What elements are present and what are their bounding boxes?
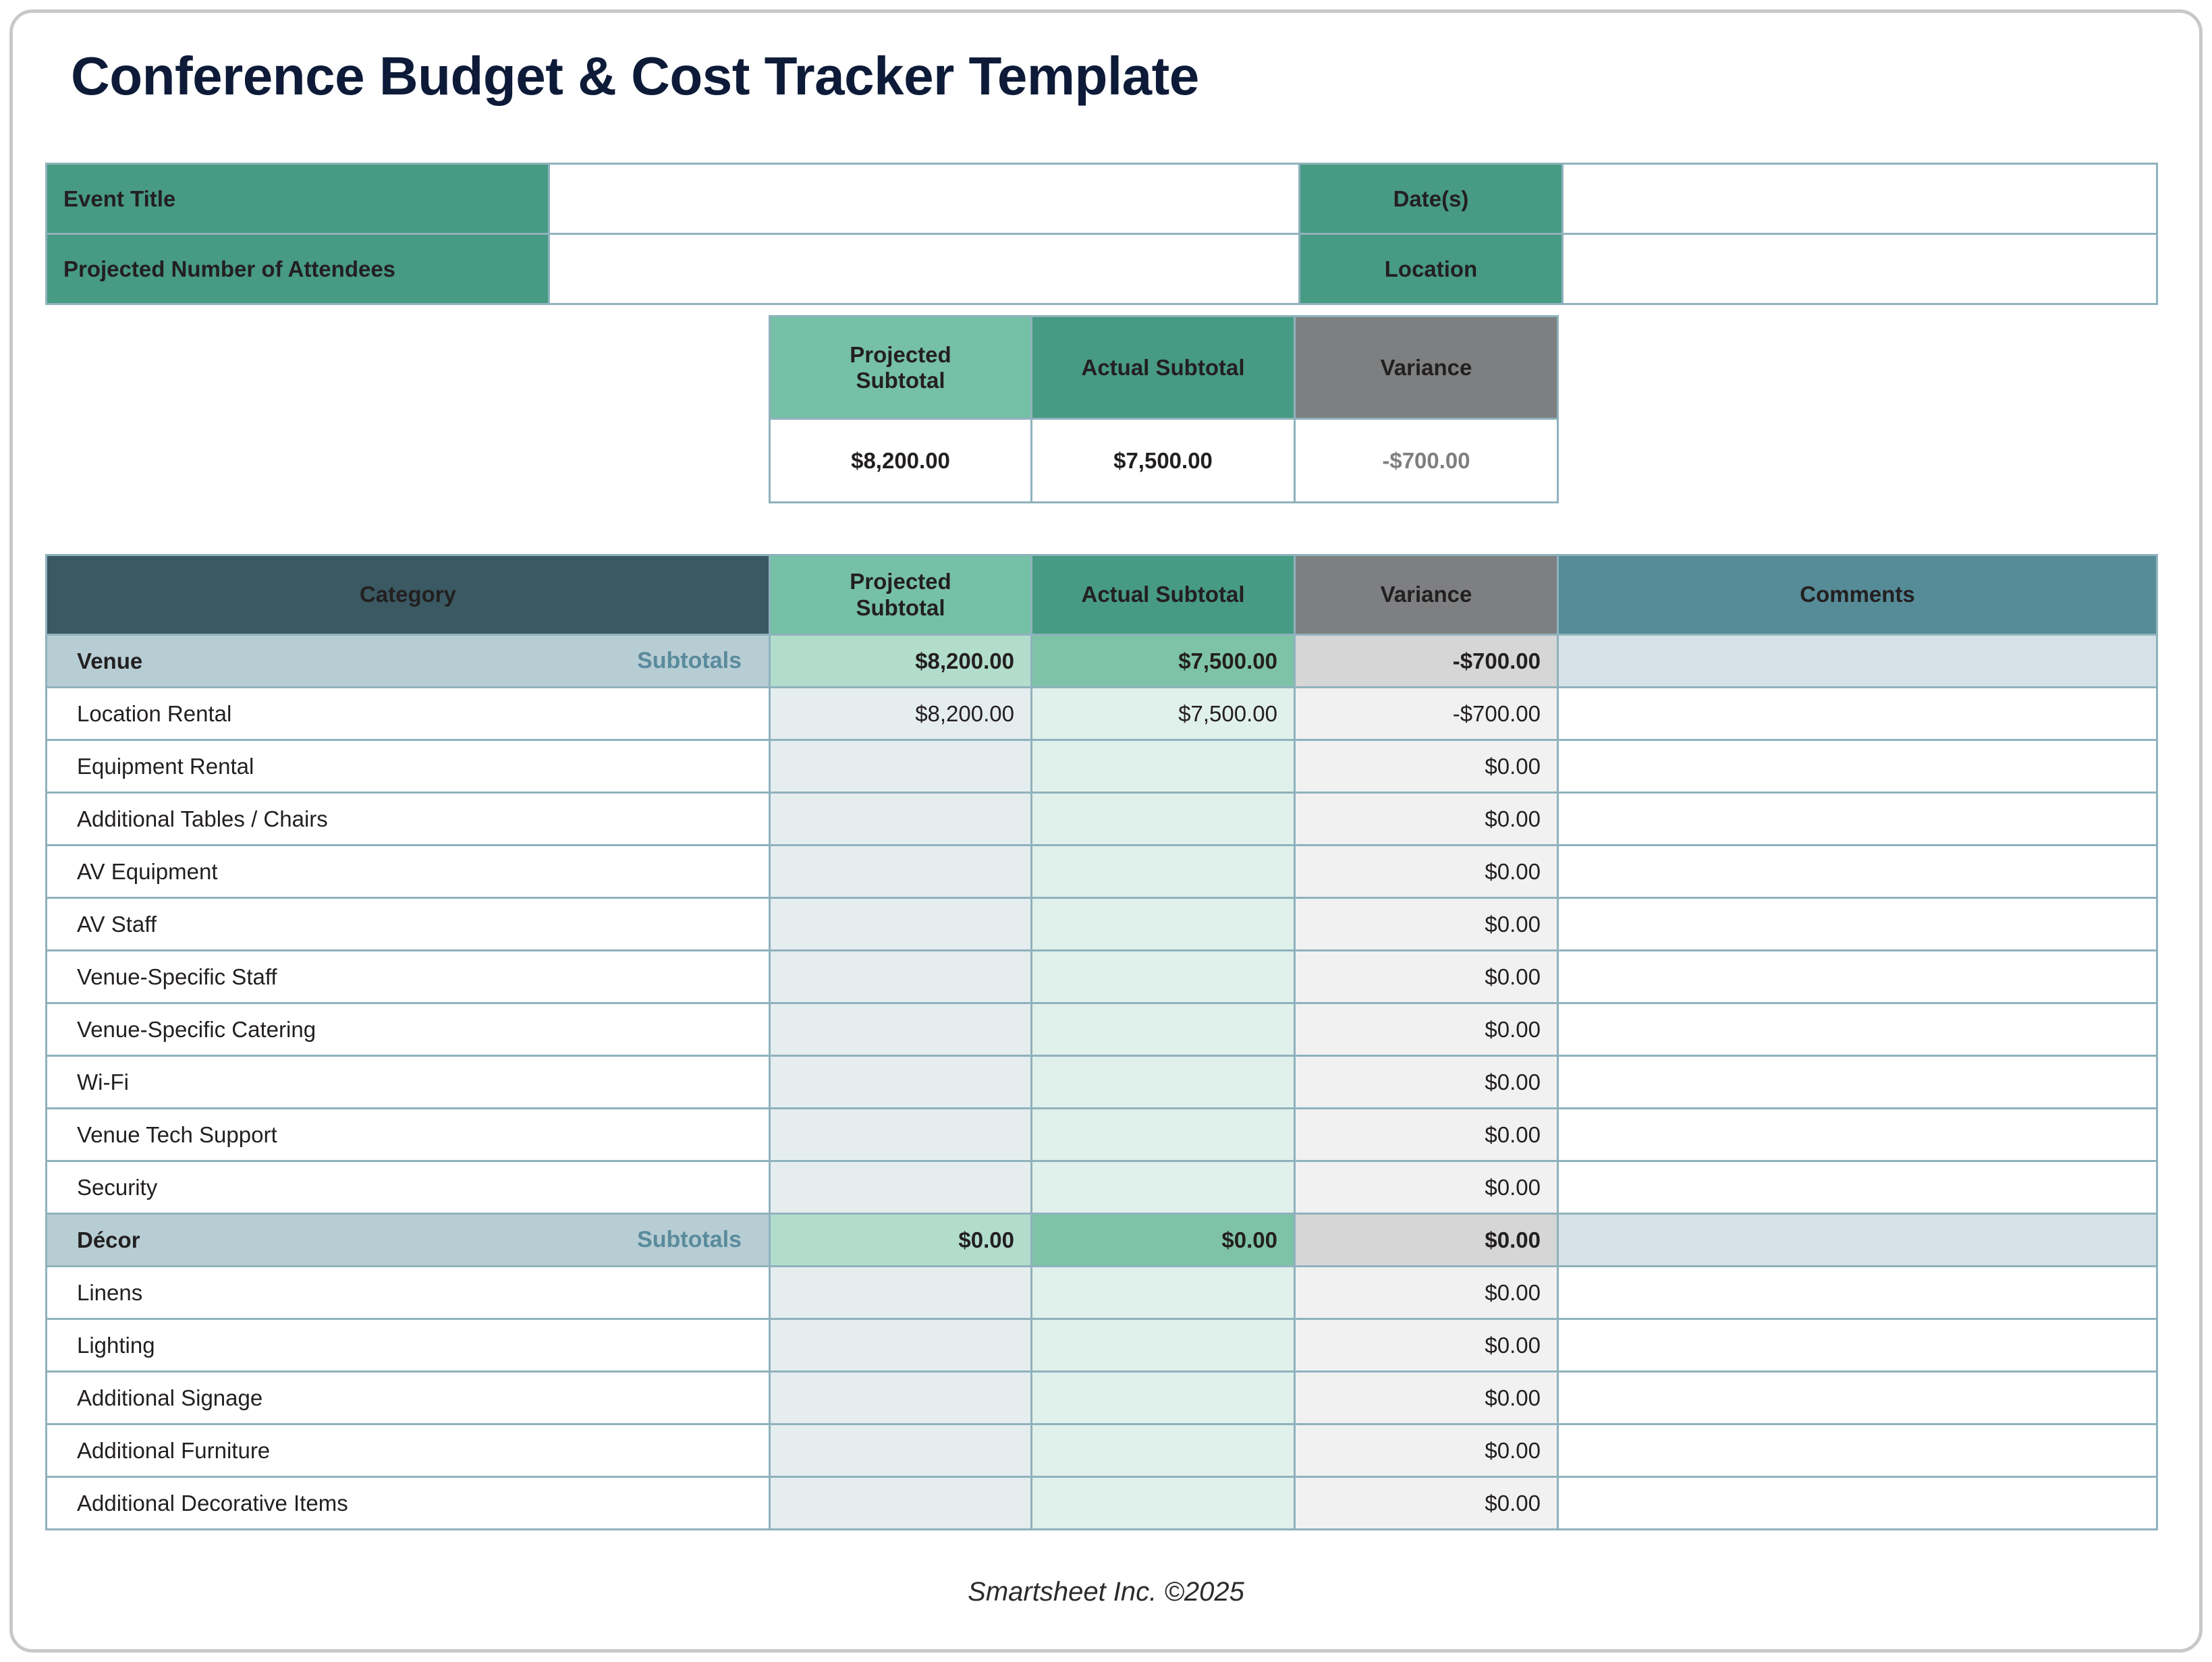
subtotals-label: Subtotals — [637, 648, 742, 674]
column-header-comments: Comments — [1558, 555, 2157, 635]
line-item-projected[interactable] — [770, 1372, 1032, 1424]
line-item-variance: $0.00 — [1295, 1477, 1558, 1530]
line-item-comments[interactable] — [1558, 1056, 2157, 1109]
budget-line-item-row: Additional Furniture$0.00 — [47, 1424, 2157, 1477]
line-item-variance: $0.00 — [1295, 1056, 1558, 1109]
budget-table: Category Projected Subtotal Actual Subto… — [45, 554, 2158, 1530]
line-item-name: Additional Tables / Chairs — [47, 793, 770, 846]
category-subtotal-actual: $0.00 — [1032, 1214, 1295, 1267]
summary-header-variance: Variance — [1295, 316, 1558, 419]
column-header-actual-subtotal: Actual Subtotal — [1032, 555, 1295, 635]
line-item-name: Additional Furniture — [47, 1424, 770, 1477]
line-item-projected[interactable] — [770, 793, 1032, 846]
line-item-variance: $0.00 — [1295, 793, 1558, 846]
summary-value-projected: $8,200.00 — [770, 419, 1032, 503]
line-item-comments[interactable] — [1558, 1319, 2157, 1372]
line-item-projected[interactable] — [770, 1056, 1032, 1109]
category-subtotal-comments[interactable] — [1558, 635, 2157, 688]
budget-line-item-row: Additional Decorative Items$0.00 — [47, 1477, 2157, 1530]
line-item-comments[interactable] — [1558, 1424, 2157, 1477]
footer-credit: Smartsheet Inc. ©2025 — [13, 1577, 2199, 1607]
line-item-comments[interactable] — [1558, 793, 2157, 846]
line-item-projected[interactable] — [770, 846, 1032, 898]
line-item-projected[interactable]: $8,200.00 — [770, 688, 1032, 740]
line-item-variance: $0.00 — [1295, 1424, 1558, 1477]
line-item-projected[interactable] — [770, 1319, 1032, 1372]
summary-value-row: $8,200.00 $7,500.00 -$700.00 — [770, 419, 1558, 503]
document-body: Conference Budget & Cost Tracker Templat… — [13, 13, 2199, 1649]
line-item-actual[interactable] — [1032, 1267, 1295, 1319]
budget-header-row: Category Projected Subtotal Actual Subto… — [47, 555, 2157, 635]
column-header-variance: Variance — [1295, 555, 1558, 635]
line-item-actual[interactable] — [1032, 1109, 1295, 1161]
line-item-comments[interactable] — [1558, 898, 2157, 951]
line-item-projected[interactable] — [770, 740, 1032, 793]
line-item-variance: $0.00 — [1295, 740, 1558, 793]
category-row-content: VenueSubtotals — [47, 636, 769, 686]
document-card: Conference Budget & Cost Tracker Templat… — [9, 9, 2203, 1653]
line-item-projected[interactable] — [770, 951, 1032, 1003]
budget-line-item-row: Lighting$0.00 — [47, 1319, 2157, 1372]
budget-line-item-row: Additional Tables / Chairs$0.00 — [47, 793, 2157, 846]
summary-header-row: Projected Subtotal Actual Subtotal Varia… — [770, 316, 1558, 419]
line-item-comments[interactable] — [1558, 1003, 2157, 1056]
line-item-variance: $0.00 — [1295, 1109, 1558, 1161]
line-item-variance: $0.00 — [1295, 846, 1558, 898]
budget-line-item-row: Security$0.00 — [47, 1161, 2157, 1214]
line-item-comments[interactable] — [1558, 846, 2157, 898]
event-info-row: Projected Number of AttendeesLocation — [47, 234, 2157, 304]
line-item-comments[interactable] — [1558, 1161, 2157, 1214]
line-item-comments[interactable] — [1558, 740, 2157, 793]
category-name-cell: DécorSubtotals — [47, 1214, 770, 1267]
category-name-cell: VenueSubtotals — [47, 635, 770, 688]
line-item-variance: $0.00 — [1295, 898, 1558, 951]
line-item-projected[interactable] — [770, 1424, 1032, 1477]
budget-line-item-row: Linens$0.00 — [47, 1267, 2157, 1319]
line-item-variance: $0.00 — [1295, 1319, 1558, 1372]
line-item-actual[interactable] — [1032, 846, 1295, 898]
line-item-actual[interactable]: $7,500.00 — [1032, 688, 1295, 740]
category-subtotal-projected: $0.00 — [770, 1214, 1032, 1267]
line-item-name: AV Staff — [47, 898, 770, 951]
category-row-content: DécorSubtotals — [47, 1215, 769, 1265]
subtotals-label: Subtotals — [637, 1227, 742, 1253]
line-item-name: Additional Signage — [47, 1372, 770, 1424]
line-item-variance: -$700.00 — [1295, 688, 1558, 740]
summary-header-actual: Actual Subtotal — [1032, 316, 1295, 419]
page-title: Conference Budget & Cost Tracker Templat… — [71, 45, 1199, 107]
category-subtotal-actual: $7,500.00 — [1032, 635, 1295, 688]
event-info-label-projected-attendees: Projected Number of Attendees — [47, 234, 549, 304]
line-item-name: Venue Tech Support — [47, 1109, 770, 1161]
event-info-input-event-title[interactable] — [549, 164, 1300, 234]
line-item-comments[interactable] — [1558, 951, 2157, 1003]
line-item-variance: $0.00 — [1295, 1372, 1558, 1424]
budget-line-item-row: AV Equipment$0.00 — [47, 846, 2157, 898]
line-item-comments[interactable] — [1558, 688, 2157, 740]
event-info-input-location[interactable] — [1563, 234, 2157, 304]
category-subtotal-row: VenueSubtotals$8,200.00$7,500.00-$700.00 — [47, 635, 2157, 688]
category-label: Décor — [77, 1227, 140, 1253]
line-item-name: Lighting — [47, 1319, 770, 1372]
budget-line-item-row: Venue Tech Support$0.00 — [47, 1109, 2157, 1161]
line-item-variance: $0.00 — [1295, 1267, 1558, 1319]
summary-header-projected-line1: Projected — [850, 342, 951, 367]
line-item-name: Linens — [47, 1267, 770, 1319]
category-label: Venue — [77, 648, 142, 674]
line-item-projected[interactable] — [770, 1109, 1032, 1161]
budget-line-item-row: Venue-Specific Catering$0.00 — [47, 1003, 2157, 1056]
line-item-actual[interactable] — [1032, 740, 1295, 793]
summary-header-projected: Projected Subtotal — [770, 316, 1032, 419]
event-info-row: Event TitleDate(s) — [47, 164, 2157, 234]
column-header-projected-line1: Projected — [850, 569, 951, 594]
budget-line-item-row: Wi-Fi$0.00 — [47, 1056, 2157, 1109]
line-item-actual[interactable] — [1032, 1372, 1295, 1424]
budget-line-item-row: Venue-Specific Staff$0.00 — [47, 951, 2157, 1003]
line-item-variance: $0.00 — [1295, 1161, 1558, 1214]
budget-line-item-row: Location Rental$8,200.00$7,500.00-$700.0… — [47, 688, 2157, 740]
event-info-label-event-title: Event Title — [47, 164, 549, 234]
line-item-actual[interactable] — [1032, 793, 1295, 846]
line-item-actual[interactable] — [1032, 951, 1295, 1003]
line-item-actual[interactable] — [1032, 1424, 1295, 1477]
column-header-projected-line2: Subtotal — [856, 595, 945, 620]
line-item-actual[interactable] — [1032, 1319, 1295, 1372]
summary-value-actual: $7,500.00 — [1032, 419, 1295, 503]
line-item-variance: $0.00 — [1295, 1003, 1558, 1056]
line-item-actual[interactable] — [1032, 1477, 1295, 1530]
category-subtotal-variance: $0.00 — [1295, 1214, 1558, 1267]
line-item-variance: $0.00 — [1295, 951, 1558, 1003]
line-item-actual[interactable] — [1032, 1056, 1295, 1109]
line-item-actual[interactable] — [1032, 898, 1295, 951]
line-item-name: AV Equipment — [47, 846, 770, 898]
line-item-comments[interactable] — [1558, 1267, 2157, 1319]
column-header-projected-subtotal: Projected Subtotal — [770, 555, 1032, 635]
line-item-projected[interactable] — [770, 1161, 1032, 1214]
category-subtotal-row: DécorSubtotals$0.00$0.00$0.00 — [47, 1214, 2157, 1267]
category-subtotal-variance: -$700.00 — [1295, 635, 1558, 688]
event-info-input-dates[interactable] — [1563, 164, 2157, 234]
column-header-category: Category — [47, 555, 770, 635]
line-item-projected[interactable] — [770, 898, 1032, 951]
event-info-table: Event TitleDate(s)Projected Number of At… — [45, 163, 2158, 305]
line-item-name: Venue-Specific Staff — [47, 951, 770, 1003]
budget-line-item-row: AV Staff$0.00 — [47, 898, 2157, 951]
line-item-actual[interactable] — [1032, 1161, 1295, 1214]
budget-line-item-row: Additional Signage$0.00 — [47, 1372, 2157, 1424]
summary-totals-table: Projected Subtotal Actual Subtotal Varia… — [769, 315, 1559, 503]
summary-header-projected-line2: Subtotal — [856, 368, 945, 393]
category-subtotal-comments[interactable] — [1558, 1214, 2157, 1267]
line-item-actual[interactable] — [1032, 1003, 1295, 1056]
event-info-label-dates: Date(s) — [1300, 164, 1563, 234]
line-item-projected[interactable] — [770, 1003, 1032, 1056]
budget-line-item-row: Equipment Rental$0.00 — [47, 740, 2157, 793]
line-item-name: Additional Decorative Items — [47, 1477, 770, 1530]
line-item-projected[interactable] — [770, 1267, 1032, 1319]
category-subtotal-projected: $8,200.00 — [770, 635, 1032, 688]
line-item-name: Equipment Rental — [47, 740, 770, 793]
summary-value-variance: -$700.00 — [1295, 419, 1558, 503]
line-item-projected[interactable] — [770, 1477, 1032, 1530]
line-item-name: Location Rental — [47, 688, 770, 740]
line-item-name: Venue-Specific Catering — [47, 1003, 770, 1056]
line-item-comments[interactable] — [1558, 1109, 2157, 1161]
line-item-name: Security — [47, 1161, 770, 1214]
event-info-label-location: Location — [1300, 234, 1563, 304]
line-item-name: Wi-Fi — [47, 1056, 770, 1109]
line-item-comments[interactable] — [1558, 1477, 2157, 1530]
line-item-comments[interactable] — [1558, 1372, 2157, 1424]
event-info-input-projected-attendees[interactable] — [549, 234, 1300, 304]
